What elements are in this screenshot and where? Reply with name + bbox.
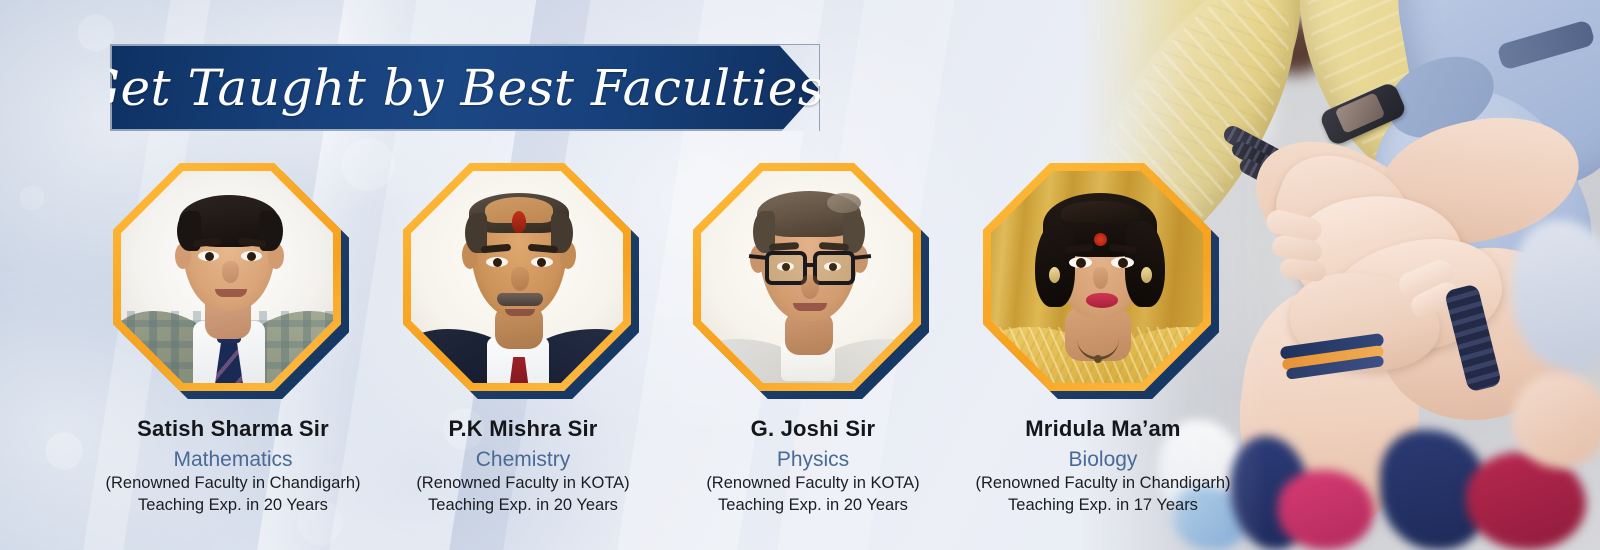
faculty-photo-frame [113, 163, 353, 403]
faculty-note: (Renowned Faculty in KOTA) [668, 473, 958, 495]
banner-ribbon: Get Taught by Best Faculties [110, 44, 820, 131]
faculty-card[interactable]: P.K Mishra Sir Chemistry (Renowned Facul… [378, 163, 668, 503]
faculty-card[interactable]: G. Joshi Sir Physics (Renowned Faculty i… [668, 163, 958, 503]
faculty-name: Satish Sharma Sir [88, 415, 378, 443]
faculty-portrait [411, 171, 623, 383]
faculty-portrait [121, 171, 333, 383]
faculty-experience: Teaching Exp. in 20 Years [88, 495, 378, 517]
faculty-name: P.K Mishra Sir [378, 415, 668, 443]
faculty-meta: P.K Mishra Sir Chemistry (Renowned Facul… [378, 415, 668, 516]
faculty-subject: Chemistry [378, 446, 668, 473]
faculty-experience: Teaching Exp. in 20 Years [668, 495, 958, 517]
faculty-banner: Get Taught by Best Faculties [0, 0, 1600, 550]
faculty-photo-frame [693, 163, 933, 403]
banner-title: Get Taught by Best Faculties [80, 59, 850, 117]
faculty-portrait [991, 171, 1203, 383]
faculty-experience: Teaching Exp. in 17 Years [958, 495, 1248, 517]
faculty-name: Mridula Ma’am [958, 415, 1248, 443]
faculty-list: Satish Sharma Sir Mathematics (Renowned … [88, 163, 1248, 503]
faculty-photo-frame [403, 163, 643, 403]
faculty-meta: G. Joshi Sir Physics (Renowned Faculty i… [668, 415, 958, 516]
faculty-card[interactable]: Satish Sharma Sir Mathematics (Renowned … [88, 163, 378, 503]
faculty-meta: Mridula Ma’am Biology (Renowned Faculty … [958, 415, 1248, 516]
faculty-note: (Renowned Faculty in Chandigarh) [958, 473, 1248, 495]
faculty-subject: Physics [668, 446, 958, 473]
faculty-subject: Mathematics [88, 446, 378, 473]
faculty-note: (Renowned Faculty in KOTA) [378, 473, 668, 495]
faculty-photo-frame [983, 163, 1223, 403]
faculty-meta: Satish Sharma Sir Mathematics (Renowned … [88, 415, 378, 516]
faculty-name: G. Joshi Sir [668, 415, 958, 443]
faculty-experience: Teaching Exp. in 20 Years [378, 495, 668, 517]
faculty-card[interactable]: Mridula Ma’am Biology (Renowned Faculty … [958, 163, 1248, 503]
faculty-note: (Renowned Faculty in Chandigarh) [88, 473, 378, 495]
faculty-portrait [701, 171, 913, 383]
faculty-subject: Biology [958, 446, 1248, 473]
